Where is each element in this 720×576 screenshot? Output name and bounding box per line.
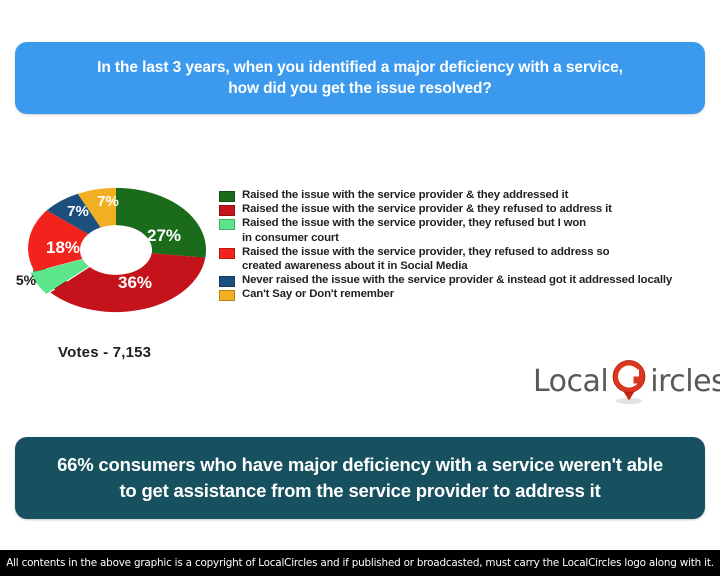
legend-label-3: Raised the issue with the service provid…	[242, 245, 609, 273]
legend-item-3[interactable]: Raised the issue with the service provid…	[219, 245, 707, 273]
conclusion-banner: 66% consumers who have major deficiency …	[15, 437, 705, 519]
question-banner: In the last 3 years, when you identified…	[15, 42, 705, 114]
question-text: In the last 3 years, when you identified…	[97, 57, 623, 99]
localcircles-logo[interactable]: Local C ircles	[533, 358, 703, 406]
legend-swatch-icon-4	[219, 276, 235, 287]
legend-label-2: Raised the issue with the service provid…	[242, 216, 586, 244]
legend-item-2[interactable]: Raised the issue with the service provid…	[219, 216, 707, 244]
pie-label-5: 5%	[16, 272, 37, 288]
conclusion-line-1: 66% consumers who have major deficiency …	[57, 452, 663, 478]
legend-label-0: Raised the issue with the service provid…	[242, 188, 568, 202]
logo-text-local: Local	[533, 367, 608, 397]
pie-chart-svg: 27% 36% 5% 18% 7% 7%	[16, 168, 216, 328]
legend-label-5: Can't Say or Don't remember	[242, 287, 394, 301]
conclusion-line-2: to get assistance from the service provi…	[57, 478, 663, 504]
infographic-canvas: In the last 3 years, when you identified…	[0, 0, 720, 576]
pie-label-7-blue: 7%	[67, 203, 89, 220]
votes-label: Votes - 7,153	[58, 344, 151, 361]
legend-label-1: Raised the issue with the service provid…	[242, 202, 612, 216]
copyright-text: All contents in the above graphic is a c…	[6, 557, 714, 569]
map-pin-icon: C	[609, 359, 649, 405]
legend-item-5[interactable]: Can't Say or Don't remember	[219, 287, 707, 301]
question-line-2: how did you get the issue resolved?	[97, 78, 623, 99]
legend-label-3-line-2: created awareness about it in Social Med…	[242, 260, 467, 272]
pie-chart: 27% 36% 5% 18% 7% 7%	[16, 168, 216, 328]
pie-label-18: 18%	[46, 238, 80, 257]
legend-label-2-line-2: in consumer court	[242, 232, 339, 244]
legend-label-3-line-1: Raised the issue with the service provid…	[242, 246, 609, 258]
copyright-footer: All contents in the above graphic is a c…	[0, 550, 720, 576]
legend-item-4[interactable]: Never raised the issue with the service …	[219, 273, 707, 287]
chart-legend: Raised the issue with the service provid…	[219, 188, 707, 302]
legend-swatch-icon-3	[219, 248, 235, 259]
legend-swatch-icon-2	[219, 219, 235, 230]
conclusion-text: 66% consumers who have major deficiency …	[57, 452, 663, 504]
pie-label-27: 27%	[147, 226, 181, 245]
legend-swatch-icon-0	[219, 191, 235, 202]
logo-text-ircles: ircles	[650, 367, 720, 397]
legend-swatch-icon-1	[219, 205, 235, 216]
question-line-1: In the last 3 years, when you identified…	[97, 57, 623, 78]
legend-label-4: Never raised the issue with the service …	[242, 273, 672, 287]
pie-label-36: 36%	[118, 273, 152, 292]
legend-item-1[interactable]: Raised the issue with the service provid…	[219, 202, 707, 216]
legend-item-0[interactable]: Raised the issue with the service provid…	[219, 188, 707, 202]
legend-swatch-icon-5	[219, 290, 235, 301]
pie-label-7-orange: 7%	[97, 193, 119, 210]
legend-label-2-line-1: Raised the issue with the service provid…	[242, 217, 586, 229]
